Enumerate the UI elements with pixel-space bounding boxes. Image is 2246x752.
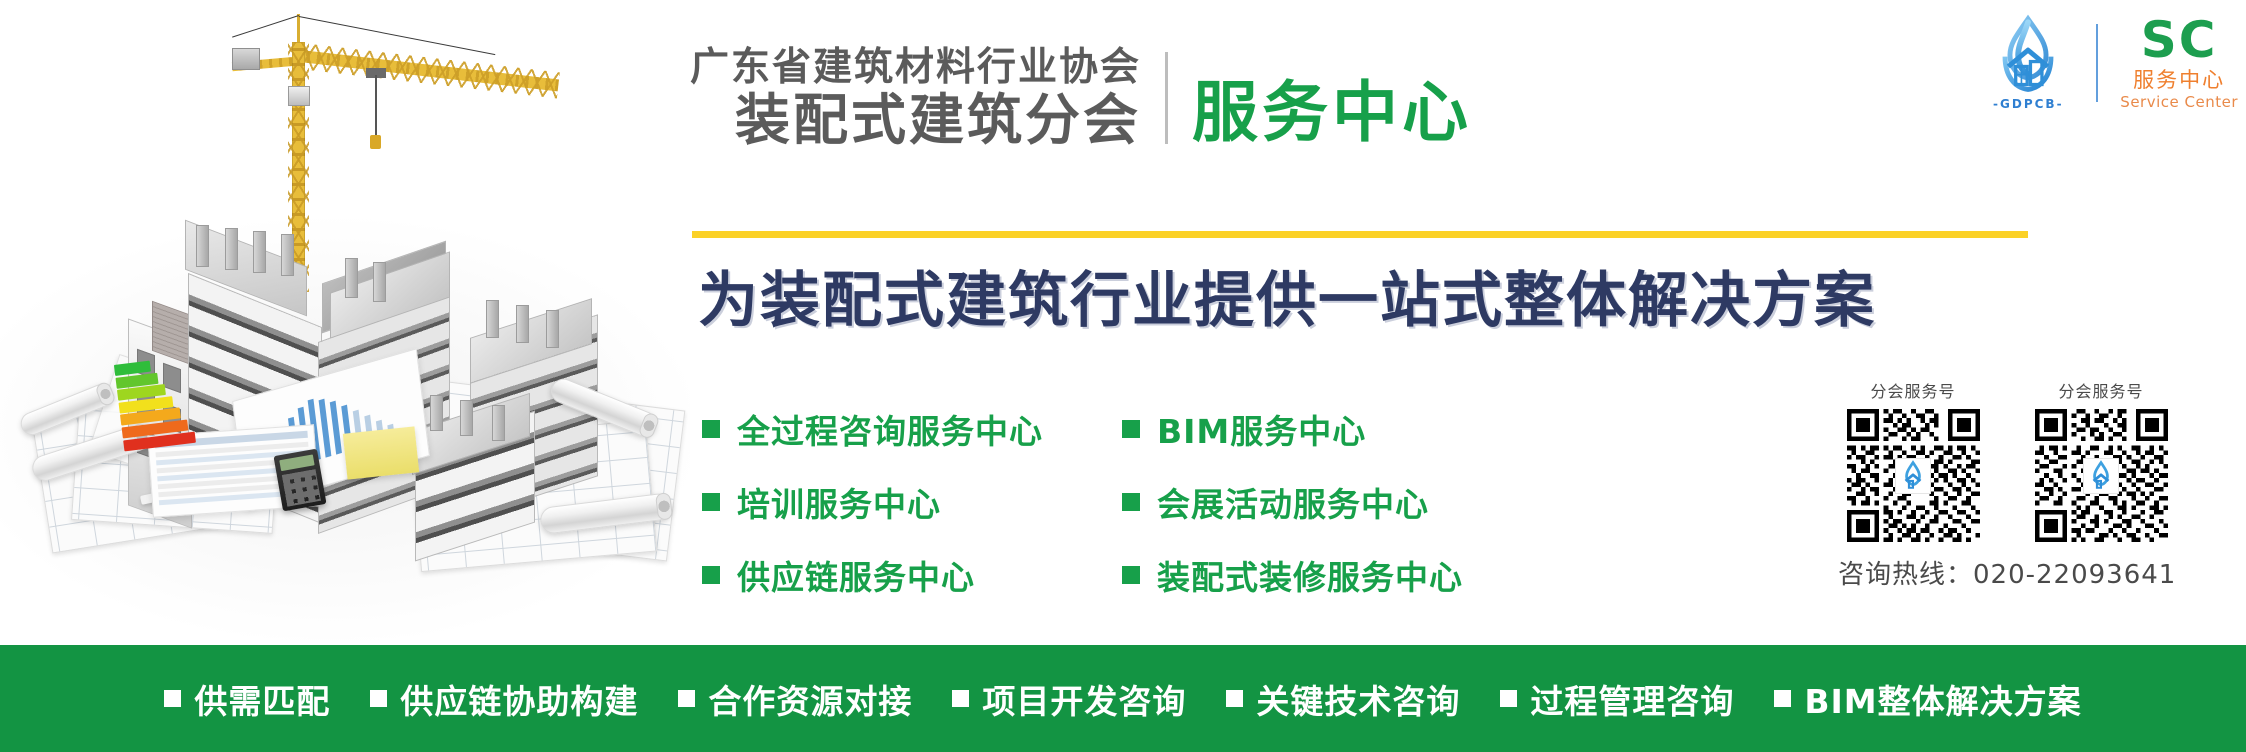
organization-names: 广东省建筑材料行业协会 装配式建筑分会: [690, 48, 1141, 148]
crane-cabin: [288, 86, 310, 106]
footer-item-label: 供应链协助构建: [400, 675, 638, 723]
service-center-title: 服务中心: [1192, 80, 1472, 148]
service-item-label: 供应链服务中心: [737, 551, 975, 599]
footer-item[interactable]: 供应链协助构建: [370, 675, 638, 723]
bullet-square-icon: [702, 420, 720, 438]
building-column: [492, 405, 505, 441]
building-column: [430, 395, 443, 431]
building-column: [516, 305, 529, 343]
bullet-square-icon: [1122, 420, 1140, 438]
brand-divider: [2096, 24, 2098, 102]
qr-code-image[interactable]: [2035, 409, 2168, 542]
service-item-label: BIM服务中心: [1157, 405, 1366, 453]
gdpcb-mark: -GDPCB-: [1982, 14, 2074, 111]
bullet-square-icon: [1122, 493, 1140, 511]
bullet-square-icon: [370, 690, 387, 707]
hero-construction-image: HOME EXPENSES: [0, 0, 690, 645]
service-item[interactable]: BIM服务中心: [1122, 405, 1542, 453]
calculator-icon: [273, 449, 326, 512]
sc-initials: SC: [2141, 15, 2218, 65]
bullet-square-icon: [1500, 690, 1517, 707]
association-name: 广东省建筑材料行业协会: [690, 48, 1141, 87]
footer-item-label: BIM整体解决方案: [1804, 675, 2081, 723]
page-headline: 为装配式建筑行业提供一站式整体解决方案: [698, 252, 1876, 339]
service-item-label: 全过程咨询服务中心: [737, 405, 1043, 453]
crane-hook: [370, 135, 381, 149]
bullet-square-icon: [702, 566, 720, 584]
service-center-logo-text: SC 服务中心 Service Center: [2120, 15, 2238, 110]
service-item[interactable]: 培训服务中心: [702, 478, 1122, 526]
qr-label: 分会服务号: [2026, 378, 2176, 402]
sc-chinese-label: 服务中心: [2133, 70, 2225, 91]
footer-keyword-bar: 供需匹配 供应链协助构建 合作资源对接 项目开发咨询 关键技术咨询 过程管理咨询…: [0, 645, 2246, 752]
footer-item[interactable]: BIM整体解决方案: [1774, 675, 2081, 723]
qr-code-row: 分会服务号: [1838, 378, 2238, 542]
flame-house-icon: [1987, 14, 2069, 96]
footer-item[interactable]: 过程管理咨询: [1500, 675, 1734, 723]
footer-item-label: 项目开发咨询: [982, 675, 1186, 723]
building-column: [196, 225, 209, 267]
service-center-list: 全过程咨询服务中心 BIM服务中心 培训服务中心 会展活动服务中心 供应链服务中…: [702, 405, 1832, 599]
energy-rating-label: [114, 356, 200, 437]
sc-english-label: Service Center: [2120, 95, 2238, 110]
qr-center-logo-icon: [1895, 458, 1931, 494]
flame-house-icon: [1896, 409, 1930, 542]
brand-abbrev: -GDPCB-: [1993, 97, 2064, 111]
bullet-square-icon: [164, 690, 181, 707]
building-column: [546, 310, 559, 348]
building-column: [253, 231, 266, 273]
qr-code-image[interactable]: [1847, 409, 1980, 542]
footer-item[interactable]: 合作资源对接: [678, 675, 912, 723]
service-item-label: 会展活动服务中心: [1157, 478, 1429, 526]
crane-tie-line-rear: [232, 15, 299, 38]
service-item[interactable]: 会展活动服务中心: [1122, 478, 1542, 526]
qr-contact-zone: 分会服务号: [1838, 378, 2238, 591]
service-item-label: 装配式装修服务中心: [1157, 551, 1463, 599]
building-column: [373, 262, 386, 302]
footer-item[interactable]: 项目开发咨询: [952, 675, 1186, 723]
organization-title-block: 广东省建筑材料行业协会 装配式建筑分会 服务中心: [690, 48, 1472, 148]
bullet-square-icon: [1226, 690, 1243, 707]
footer-item-label: 过程管理咨询: [1530, 675, 1734, 723]
sticky-note: [343, 426, 419, 479]
footer-item-label: 关键技术咨询: [1256, 675, 1460, 723]
bullet-square-icon: [678, 690, 695, 707]
building-column: [486, 300, 499, 338]
brand-logo: -GDPCB- SC 服务中心 Service Center: [1982, 14, 2238, 111]
branch-name: 装配式建筑分会: [735, 93, 1141, 148]
qr-card: 分会服务号: [1838, 378, 1988, 542]
qr-card: 分会服务号: [2026, 378, 2176, 542]
hotline-text: 咨询热线：020-22093641: [1838, 554, 2238, 591]
footer-item[interactable]: 关键技术咨询: [1226, 675, 1460, 723]
footer-item-label: 合作资源对接: [708, 675, 912, 723]
building-column: [460, 400, 473, 436]
service-item[interactable]: 供应链服务中心: [702, 551, 1122, 599]
building-column: [345, 258, 358, 298]
service-item[interactable]: 装配式装修服务中心: [1122, 551, 1542, 599]
bullet-square-icon: [952, 690, 969, 707]
building-column: [281, 234, 294, 276]
crane-cable: [375, 75, 377, 137]
crane-counterweight: [232, 48, 260, 70]
promotional-banner: HOME EXPENSES: [0, 0, 2246, 752]
qr-center-logo-icon: [2083, 458, 2119, 494]
bullet-square-icon: [1774, 690, 1791, 707]
crane-jib: [299, 50, 559, 91]
title-divider: [1165, 52, 1168, 144]
flame-house-icon: [2084, 409, 2118, 542]
building-column: [225, 228, 238, 270]
content-area: -GDPCB- SC 服务中心 Service Center 广东省建筑材料行业…: [690, 0, 2246, 645]
bullet-square-icon: [702, 493, 720, 511]
service-item[interactable]: 全过程咨询服务中心: [702, 405, 1122, 453]
footer-item[interactable]: 供需匹配: [164, 675, 330, 723]
gold-divider-rule: [692, 231, 2028, 238]
bullet-square-icon: [1122, 566, 1140, 584]
qr-label: 分会服务号: [1838, 378, 1988, 402]
footer-item-label: 供需匹配: [194, 675, 330, 723]
service-item-label: 培训服务中心: [737, 478, 941, 526]
